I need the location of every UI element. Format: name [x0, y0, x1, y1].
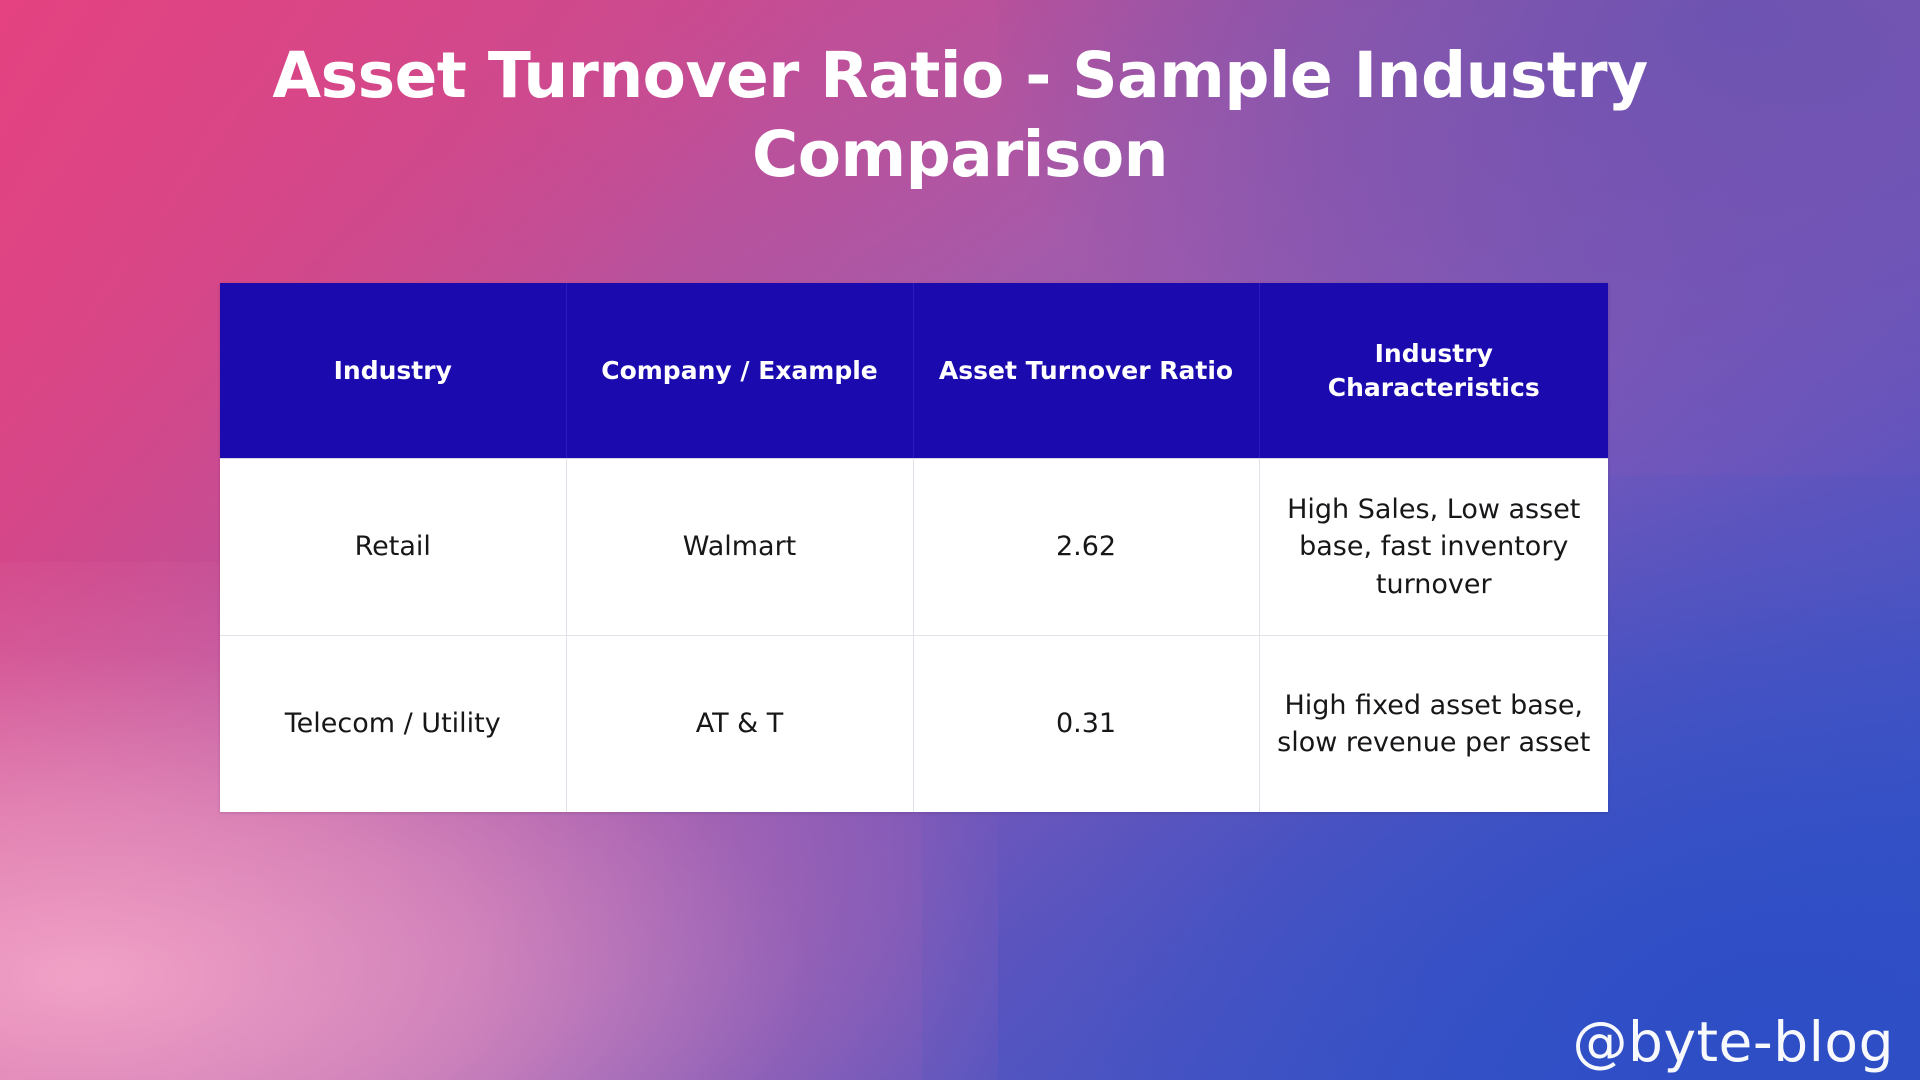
cell-industry: Telecom / Utility — [220, 636, 566, 813]
cell-company: Walmart — [566, 459, 913, 636]
cell-characteristics: High fixed asset base, slow revenue per … — [1259, 636, 1608, 813]
table-row: Telecom / Utility AT & T 0.31 High fixed… — [220, 636, 1608, 813]
asset-turnover-table: Industry Company / Example Asset Turnove… — [220, 283, 1608, 812]
comparison-table: Industry Company / Example Asset Turnove… — [220, 283, 1608, 812]
cell-ratio: 2.62 — [913, 459, 1259, 636]
column-header-industry-characteristics: Industry Characteristics — [1259, 283, 1608, 459]
cell-characteristics: High Sales, Low asset base, fast invento… — [1259, 459, 1608, 636]
column-header-asset-turnover-ratio: Asset Turnover Ratio — [913, 283, 1259, 459]
watermark-handle: @byte-blog — [1573, 1010, 1894, 1074]
cell-company: AT & T — [566, 636, 913, 813]
column-header-company: Company / Example — [566, 283, 913, 459]
cell-industry: Retail — [220, 459, 566, 636]
cell-ratio: 0.31 — [913, 636, 1259, 813]
page-title: Asset Turnover Ratio - Sample Industry C… — [260, 36, 1660, 195]
table-header-row: Industry Company / Example Asset Turnove… — [220, 283, 1608, 459]
table-row: Retail Walmart 2.62 High Sales, Low asse… — [220, 459, 1608, 636]
table-header: Industry Company / Example Asset Turnove… — [220, 283, 1608, 459]
column-header-industry: Industry — [220, 283, 566, 459]
table-body: Retail Walmart 2.62 High Sales, Low asse… — [220, 459, 1608, 813]
